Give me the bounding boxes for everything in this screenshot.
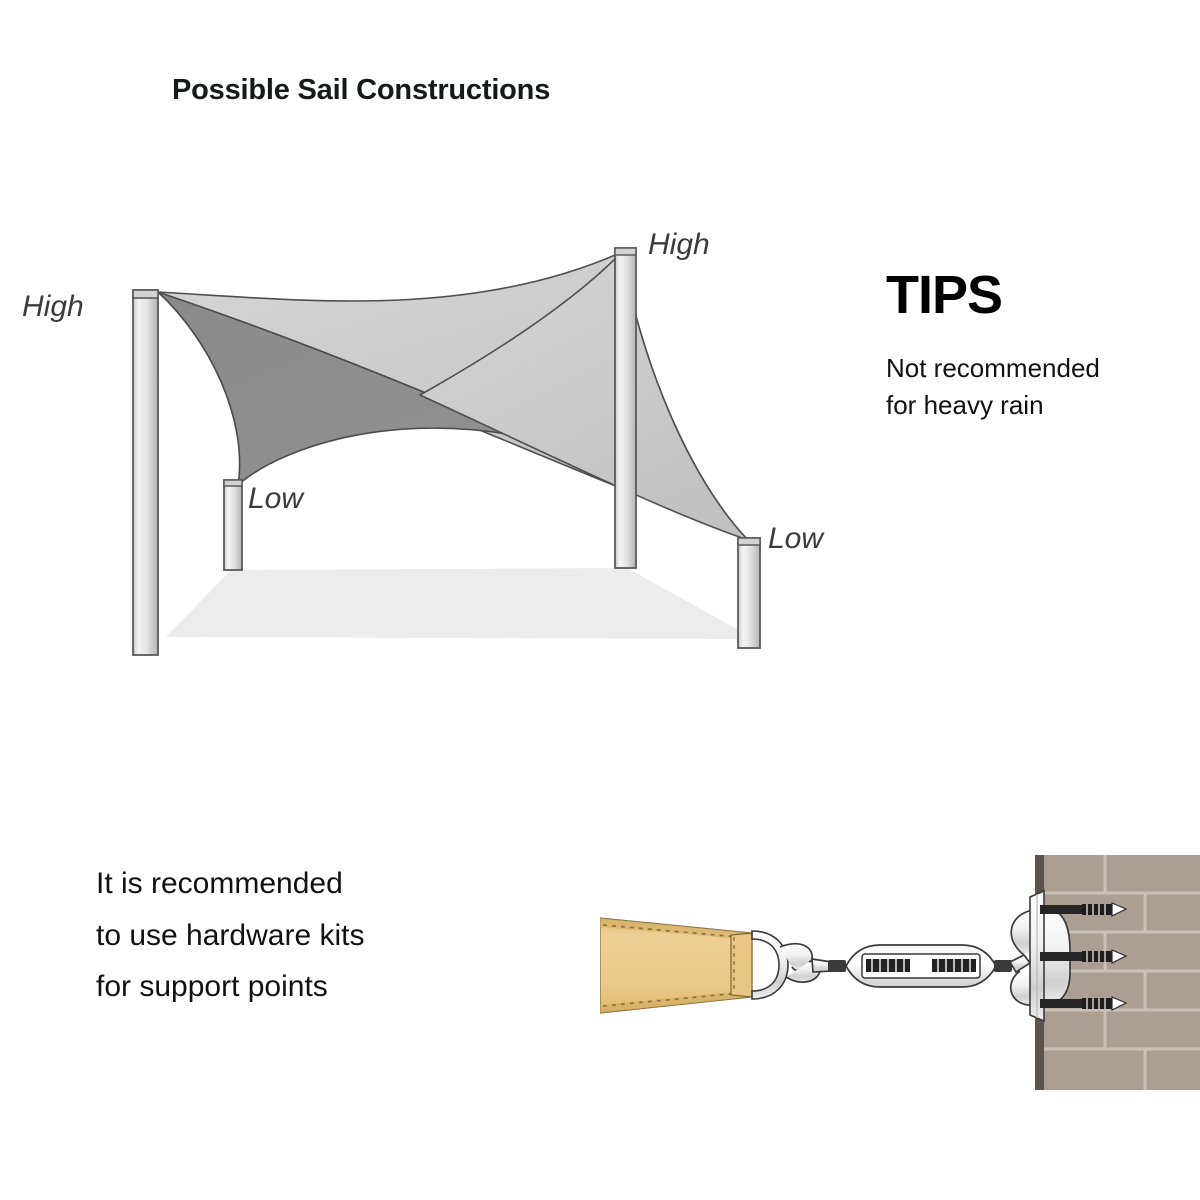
post-short-left — [224, 480, 242, 570]
post-tall-right — [615, 248, 636, 568]
hardware-kit-illustration — [600, 855, 1200, 1120]
label-high-right: High — [648, 228, 710, 262]
label-low-right: Low — [768, 522, 823, 556]
post-short-right — [738, 538, 760, 648]
hardware-kit-svg — [600, 855, 1200, 1120]
hardware-line-3: for support points — [96, 961, 516, 1013]
tips-heading: TIPS — [886, 268, 1186, 322]
page-title: Possible Sail Constructions — [172, 74, 550, 107]
hardware-recommendation-text: It is recommended to use hardware kits f… — [96, 858, 516, 1013]
d-ring — [752, 931, 788, 999]
hardware-line-1: It is recommended — [96, 858, 516, 910]
post-tall-left — [133, 290, 158, 655]
tips-line-2: for heavy rain — [886, 387, 1186, 424]
tips-panel: TIPS Not recommended for heavy rain — [886, 268, 1186, 424]
ground-shadow — [166, 568, 755, 639]
tips-line-1: Not recommended — [886, 350, 1186, 387]
label-low-left: Low — [248, 482, 303, 516]
sail-corner-fabric — [600, 918, 752, 1013]
turnbuckle — [828, 945, 1012, 987]
label-high-left: High — [22, 290, 84, 324]
turnbuckle-rod-left — [828, 960, 846, 972]
shade-sail-diagram — [0, 180, 880, 700]
sail-diagram-svg — [0, 180, 880, 700]
hardware-line-2: to use hardware kits — [96, 910, 516, 962]
